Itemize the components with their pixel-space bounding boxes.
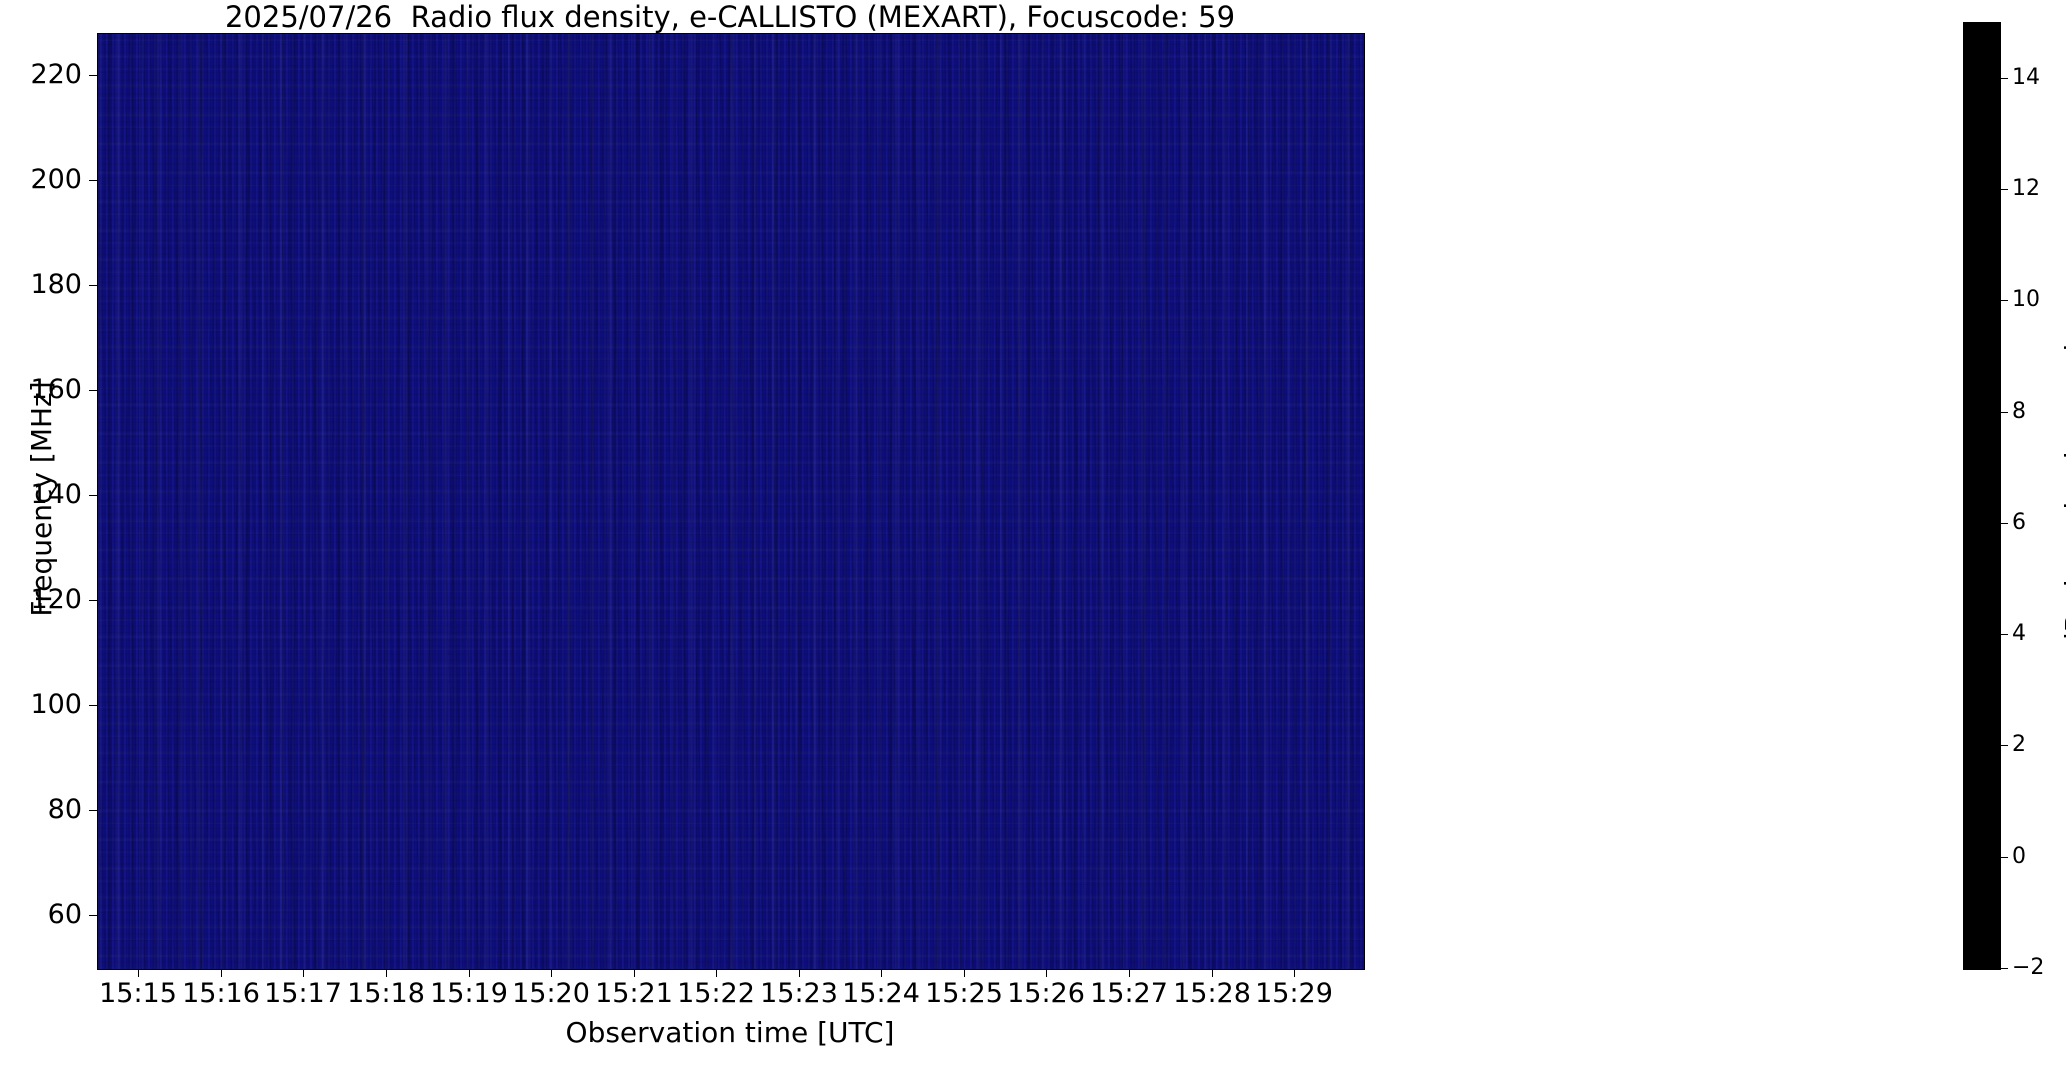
y-tick-label: 220 xyxy=(0,61,82,88)
colorbar-tick-label: 12 xyxy=(2012,178,2040,200)
colorbar-gradient xyxy=(1964,23,2000,969)
y-tick-label: 60 xyxy=(0,901,82,928)
colorbar-tick-mark xyxy=(2001,857,2008,858)
x-tick-mark xyxy=(799,969,800,977)
colorbar-tick-mark xyxy=(2001,523,2008,524)
x-tick-mark xyxy=(634,969,635,977)
colorbar-tick-mark xyxy=(2001,300,2008,301)
y-tick-mark xyxy=(89,705,97,706)
y-tick-label: 80 xyxy=(0,796,82,823)
colorbar-tick-label: −2 xyxy=(2012,957,2044,979)
y-tick-mark xyxy=(89,915,97,916)
x-tick-mark xyxy=(469,969,470,977)
colorbar-tick-label: 2 xyxy=(2012,734,2026,756)
x-tick-mark xyxy=(1046,969,1047,977)
colorbar-tick-mark xyxy=(2001,968,2008,969)
y-tick-mark xyxy=(89,180,97,181)
x-tick-mark xyxy=(138,969,139,977)
x-axis-label: Observation time [UTC] xyxy=(97,1018,1363,1048)
colorbar-tick-label: 6 xyxy=(2012,512,2026,534)
spectrogram-plot-area xyxy=(97,33,1365,970)
x-tick-mark xyxy=(1212,969,1213,977)
colorbar-tick-label: 10 xyxy=(2012,289,2040,311)
x-tick-mark xyxy=(964,969,965,977)
x-tick-mark xyxy=(716,969,717,977)
colorbar-tick-label: 8 xyxy=(2012,401,2026,423)
y-tick-mark xyxy=(89,390,97,391)
x-tick-label: 15:29 xyxy=(1234,980,1354,1008)
x-tick-mark xyxy=(551,969,552,977)
x-tick-mark xyxy=(221,969,222,977)
colorbar-tick-label: 0 xyxy=(2012,846,2026,868)
colorbar-tick-label: 14 xyxy=(2012,67,2040,89)
colorbar-tick-mark xyxy=(2001,78,2008,79)
y-tick-label: 200 xyxy=(0,166,82,193)
y-tick-mark xyxy=(89,285,97,286)
chart-title: 2025/07/26 Radio flux density, e-CALLIST… xyxy=(97,2,1363,32)
colorbar-tick-label: 4 xyxy=(2012,623,2026,645)
colorbar-tick-mark xyxy=(2001,189,2008,190)
x-tick-mark xyxy=(881,969,882,977)
colorbar-tick-mark xyxy=(2001,745,2008,746)
spectrogram-heatmap xyxy=(98,34,1364,969)
y-tick-mark xyxy=(89,75,97,76)
colorbar-tick-mark xyxy=(2001,634,2008,635)
y-axis-label: Frequency [MHz] xyxy=(27,269,57,729)
y-tick-mark xyxy=(89,495,97,496)
colorbar-label: dB above background xyxy=(2061,287,2066,707)
x-tick-mark xyxy=(1129,969,1130,977)
x-tick-mark xyxy=(303,969,304,977)
x-tick-mark xyxy=(1294,969,1295,977)
x-tick-mark xyxy=(386,969,387,977)
y-tick-mark xyxy=(89,810,97,811)
colorbar-tick-mark xyxy=(2001,412,2008,413)
y-tick-mark xyxy=(89,600,97,601)
colorbar xyxy=(1963,22,2001,970)
